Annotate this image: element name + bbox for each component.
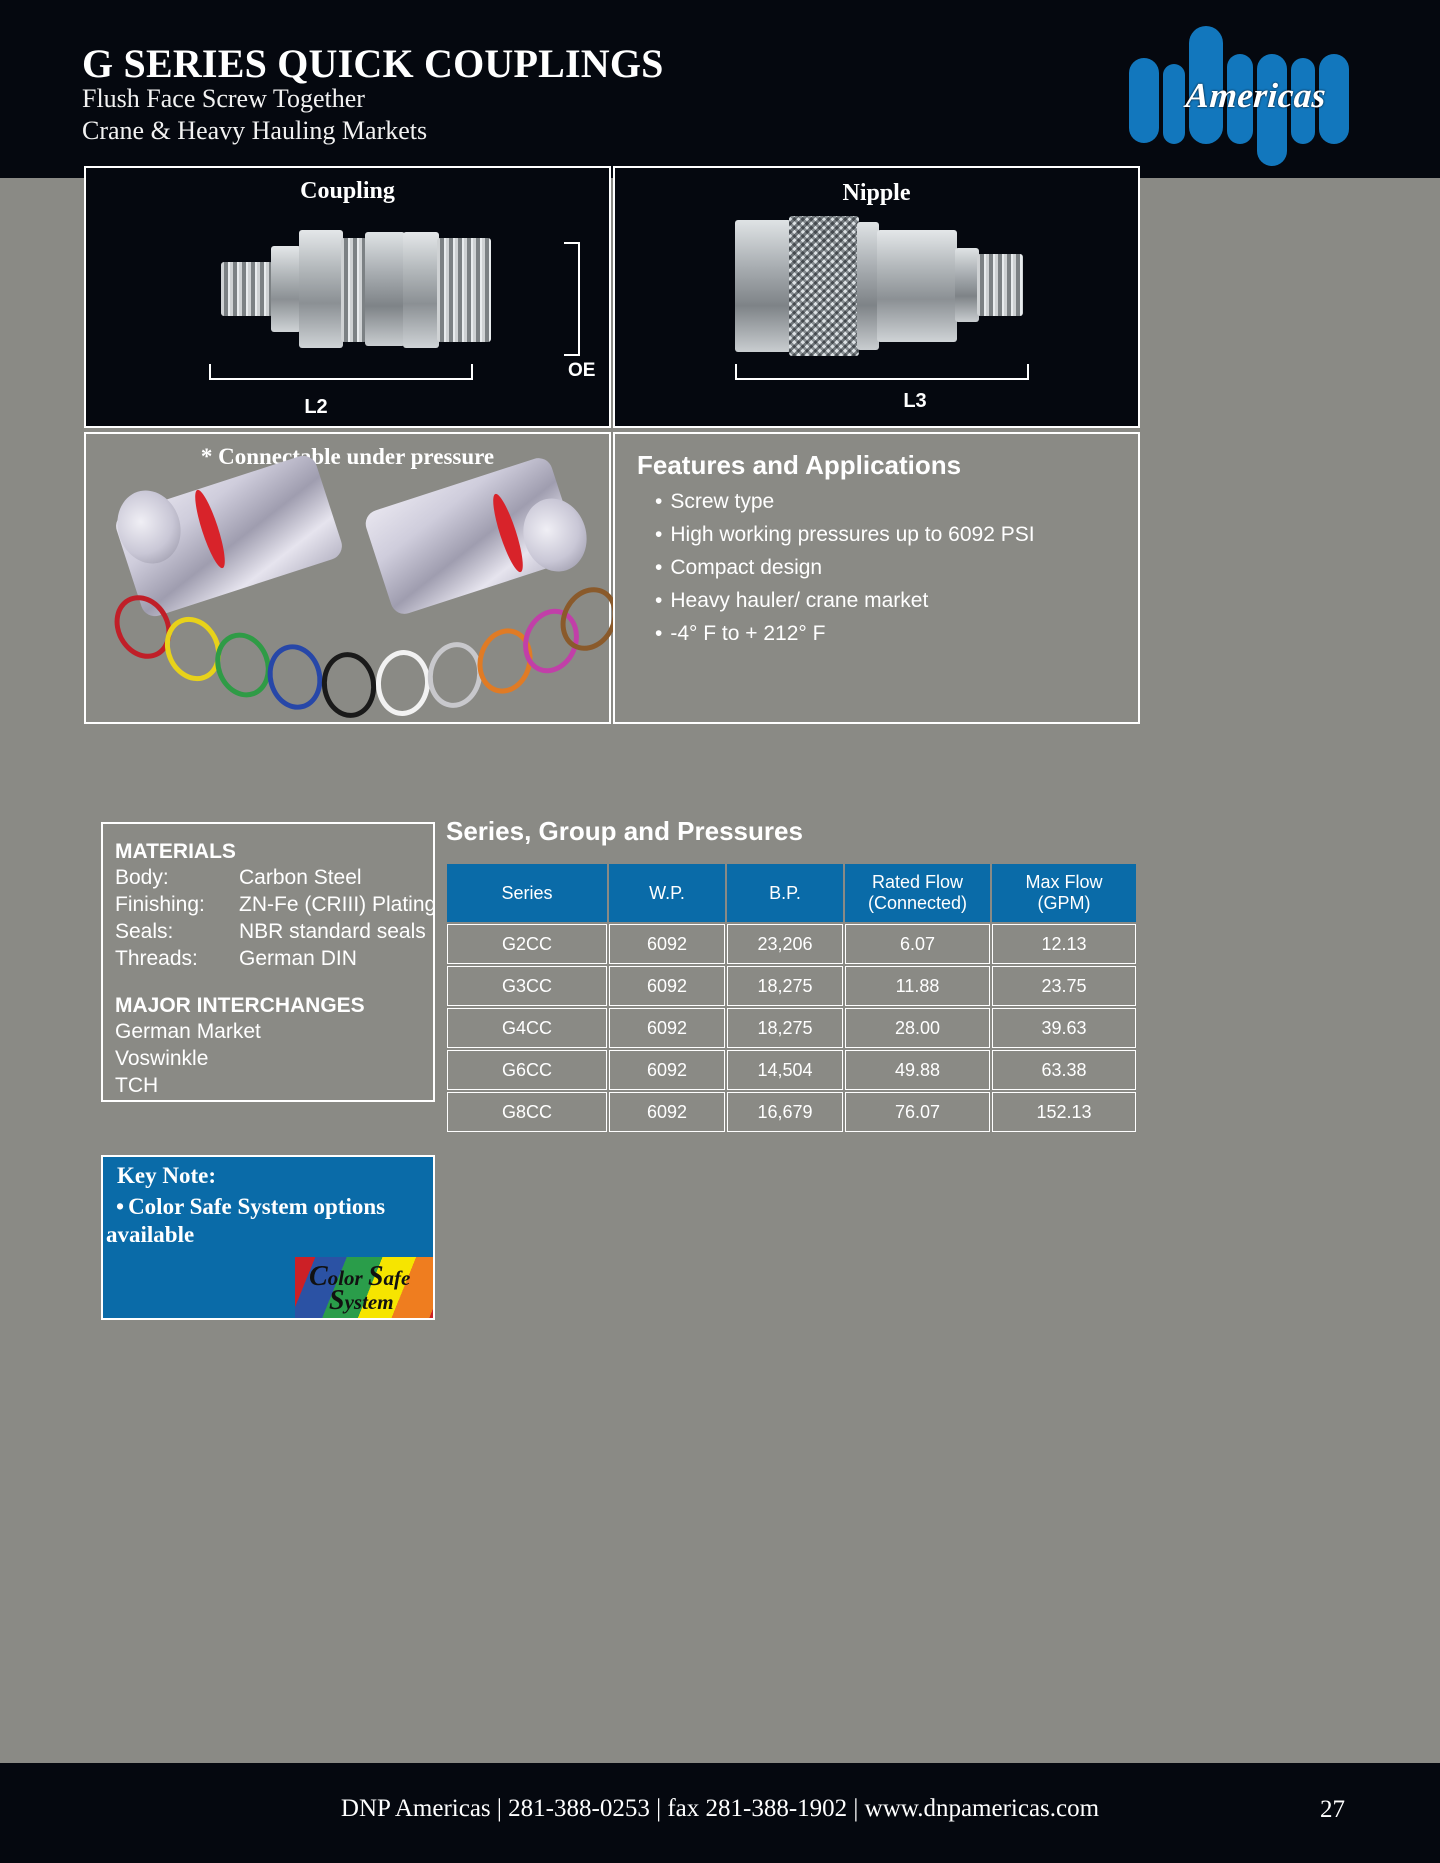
l3-dimension-label: L3 xyxy=(685,390,1145,413)
interchanges-heading: MAJOR INTERCHANGES xyxy=(115,994,433,1018)
coupling-panel: Coupling OE L2 xyxy=(84,166,611,428)
cell-max-flow: 63.38 xyxy=(992,1050,1136,1090)
table-row: G4CC 6092 18,275 28.00 39.63 xyxy=(447,1008,1136,1048)
coupling-caption: Coupling xyxy=(86,178,609,205)
materials-value: German DIN xyxy=(239,947,357,970)
nipple-knurled-grip xyxy=(789,216,859,356)
materials-row: Seals:NBR standard seals xyxy=(115,920,433,947)
nipple-shoulder xyxy=(857,222,879,350)
coupling-hex-b xyxy=(299,230,343,348)
nipple-neck xyxy=(955,248,979,322)
table-row: G8CC 6092 16,679 76.07 152.13 xyxy=(447,1092,1136,1132)
header-line-1: W.P. xyxy=(611,883,723,904)
coupling-thread-mid xyxy=(341,238,367,342)
coupler-render-right xyxy=(374,482,569,590)
header-line-2: (Connected) xyxy=(847,893,988,914)
table-header-row: Series W.P. B.P. Rated Flow (Connected) … xyxy=(447,864,1136,922)
cell-max-flow: 23.75 xyxy=(992,966,1136,1006)
table-column-header-wp: W.P. xyxy=(609,864,725,922)
header-line-2: (GPM) xyxy=(994,893,1134,914)
cell-series: G4CC xyxy=(447,1008,607,1048)
color-safe-system-logo: Color Safe System xyxy=(295,1257,435,1319)
interchange-item: TCH xyxy=(115,1074,433,1101)
oe-dimension-label: OE xyxy=(568,360,595,382)
cell-bp: 23,206 xyxy=(727,924,843,964)
series-group-pressures-table: Series W.P. B.P. Rated Flow (Connected) … xyxy=(445,862,1138,1134)
cell-series: G2CC xyxy=(447,924,607,964)
nipple-product-image xyxy=(735,202,1025,367)
header-line-1: B.P. xyxy=(729,883,841,904)
materials-spacer xyxy=(115,974,433,994)
cell-rated-flow: 28.00 xyxy=(845,1008,990,1048)
header-line-1: Series xyxy=(449,883,605,904)
nipple-collar xyxy=(735,220,791,352)
page-title: G SERIES QUICK COUPLINGS xyxy=(82,40,664,87)
coupling-barrel xyxy=(365,232,405,346)
materials-row: Finishing:ZN-Fe (CRIII) Plating xyxy=(115,893,433,920)
cell-bp: 14,504 xyxy=(727,1050,843,1090)
materials-value: Carbon Steel xyxy=(239,866,362,889)
cell-max-flow: 39.63 xyxy=(992,1008,1136,1048)
materials-row: Threads:German DIN xyxy=(115,947,433,974)
table-column-header-bp: B.P. xyxy=(727,864,843,922)
logo-cap-c: C xyxy=(309,1261,328,1292)
key-note-heading: Key Note: xyxy=(117,1163,216,1189)
materials-key: Finishing: xyxy=(115,893,239,917)
cell-series: G3CC xyxy=(447,966,607,1006)
materials-value: NBR standard seals xyxy=(239,920,426,943)
table-column-header-max-flow: Max Flow (GPM) xyxy=(992,864,1136,922)
cell-series: G8CC xyxy=(447,1092,607,1132)
coupling-product-image xyxy=(221,204,491,374)
cell-wp: 6092 xyxy=(609,1092,725,1132)
page-header: G SERIES QUICK COUPLINGS Flush Face Scre… xyxy=(0,0,1440,178)
cell-bp: 18,275 xyxy=(727,1008,843,1048)
coupling-hex-a xyxy=(271,246,301,332)
color-ring-silver xyxy=(423,638,488,712)
cell-series: G6CC xyxy=(447,1050,607,1090)
table-column-header-series: Series xyxy=(447,864,607,922)
table-row: G6CC 6092 14,504 49.88 63.38 xyxy=(447,1050,1136,1090)
header-line-1: Rated Flow xyxy=(847,872,988,893)
cell-bp: 18,275 xyxy=(727,966,843,1006)
features-panel: Features and Applications Screw type Hig… xyxy=(613,432,1140,724)
table-row: G2CC 6092 23,206 6.07 12.13 xyxy=(447,924,1136,964)
table-title: Series, Group and Pressures xyxy=(446,816,803,847)
logo-wordmark: Americas xyxy=(1150,76,1363,116)
header-line-1: Max Flow xyxy=(994,872,1134,893)
dnp-americas-logo: Americas xyxy=(1125,18,1355,143)
nipple-panel: Nipple L3 xyxy=(613,166,1140,428)
coupling-hex-c xyxy=(403,232,439,348)
page-footer: DNP Americas | 281-388-0253 | fax 281-38… xyxy=(0,1763,1440,1863)
color-ring-blue xyxy=(261,638,329,715)
connectable-under-pressure-panel: * Connectable under pressure xyxy=(84,432,611,724)
feature-item: High working pressures up to 6092 PSI xyxy=(655,523,1135,547)
feature-item: Screw type xyxy=(655,490,1135,514)
footer-contact-text: DNP Americas | 281-388-0253 | fax 281-38… xyxy=(0,1795,1440,1823)
cell-rated-flow: 49.88 xyxy=(845,1050,990,1090)
materials-row: Body:Carbon Steel xyxy=(115,866,433,893)
cell-max-flow: 152.13 xyxy=(992,1092,1136,1132)
materials-heading: MATERIALS xyxy=(115,840,433,864)
table-row: G3CC 6092 18,275 11.88 23.75 xyxy=(447,966,1136,1006)
materials-key: Body: xyxy=(115,866,239,890)
key-note-body: •Color Safe System optionsavailable xyxy=(106,1193,426,1248)
l2-dimension-label: L2 xyxy=(86,396,546,419)
cell-wp: 6092 xyxy=(609,1050,725,1090)
cell-rated-flow: 76.07 xyxy=(845,1092,990,1132)
page-subtitle-2: Crane & Heavy Hauling Markets xyxy=(82,116,427,146)
key-note-body-line-1: Color Safe System options xyxy=(128,1194,385,1219)
cell-max-flow: 12.13 xyxy=(992,924,1136,964)
color-ring-black xyxy=(318,649,381,722)
coupler-render-left xyxy=(124,482,334,590)
nipple-hex xyxy=(877,230,957,342)
key-note-body-line-2: available xyxy=(106,1222,194,1247)
interchange-item: Voswinkle xyxy=(115,1047,433,1074)
cell-bp: 16,679 xyxy=(727,1092,843,1132)
key-note-bullet-icon: • xyxy=(116,1194,124,1219)
cell-wp: 6092 xyxy=(609,924,725,964)
features-heading: Features and Applications xyxy=(637,450,961,481)
table-column-header-rated-flow: Rated Flow (Connected) xyxy=(845,864,990,922)
materials-value: ZN-Fe (CRIII) Plating xyxy=(239,893,436,916)
coupling-thread-left xyxy=(221,262,273,316)
feature-item: -4° F to + 212° F xyxy=(655,622,1135,646)
color-safe-coupling-illustration xyxy=(116,474,581,609)
page-number: 27 xyxy=(1320,1796,1345,1824)
nipple-thread xyxy=(977,254,1023,316)
materials-box: MATERIALS Body:Carbon Steel Finishing:ZN… xyxy=(101,822,435,1102)
color-ring-set xyxy=(104,594,604,709)
logo-rest-ystem: ystem xyxy=(345,1290,394,1314)
l2-dimension-bracket xyxy=(209,364,473,380)
feature-item: Compact design xyxy=(655,556,1135,580)
features-list: Screw type High working pressures up to … xyxy=(641,490,1135,655)
materials-key: Threads: xyxy=(115,947,239,971)
cell-rated-flow: 11.88 xyxy=(845,966,990,1006)
key-note-box: Key Note: •Color Safe System optionsavai… xyxy=(101,1155,435,1320)
color-safe-system-line-2: System xyxy=(329,1285,394,1317)
coupling-thread-right xyxy=(437,238,491,342)
color-ring-white xyxy=(374,648,432,718)
page-subtitle-1: Flush Face Screw Together xyxy=(82,84,365,114)
l3-dimension-bracket xyxy=(735,364,1029,380)
cell-wp: 6092 xyxy=(609,1008,725,1048)
interchange-item: German Market xyxy=(115,1020,433,1047)
logo-cap-s2: S xyxy=(329,1285,345,1316)
cell-wp: 6092 xyxy=(609,966,725,1006)
oe-dimension-bracket xyxy=(564,242,580,356)
materials-key: Seals: xyxy=(115,920,239,944)
cell-rated-flow: 6.07 xyxy=(845,924,990,964)
feature-item: Heavy hauler/ crane market xyxy=(655,589,1135,613)
